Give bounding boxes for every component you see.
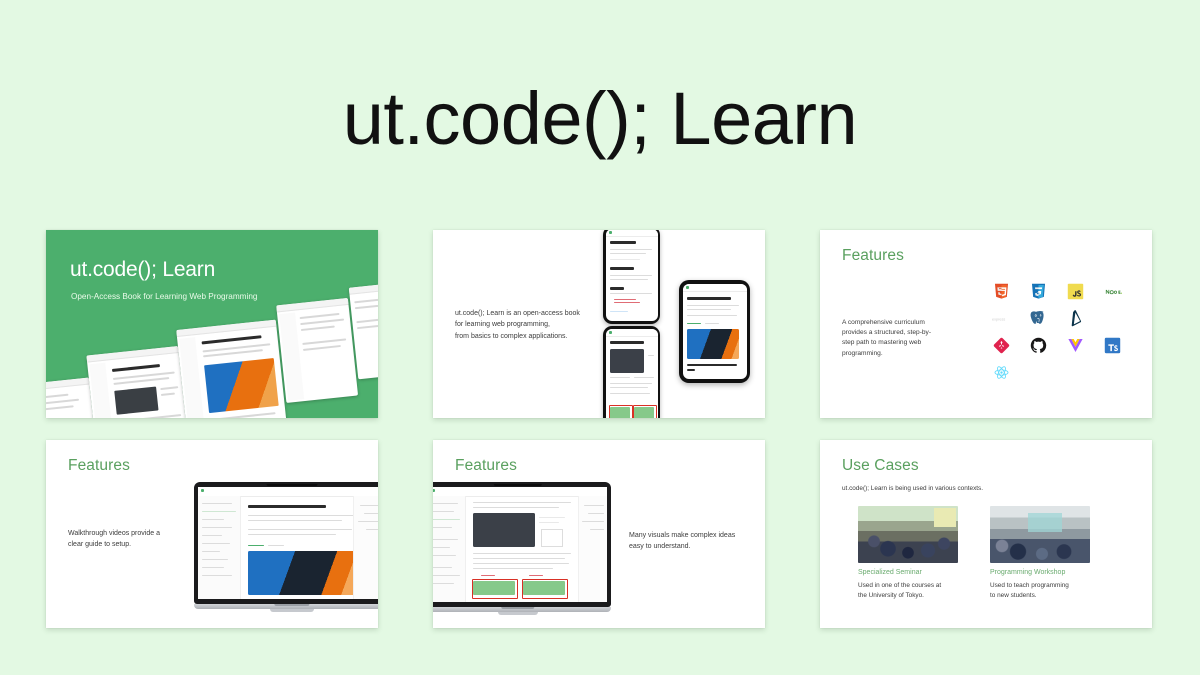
react-icon [992,363,1011,382]
slide-grid: ut.code(); Learn Open-Access Book for Le… [46,230,1154,628]
slide-heading: Features [455,457,517,475]
hero-title: ut.code(); Learn [70,258,215,282]
prisma-icon [1066,309,1085,328]
slide-features-videos[interactable]: Features Walkthrough videos provide a cl… [46,440,378,628]
redux-icon [992,336,1011,355]
screenshot-mosaic [46,289,378,418]
svg-text:express: express [992,317,1005,321]
use-case-list: Specialized Seminar Used in one of the c… [858,506,1120,601]
use-case-item[interactable]: Programming Workshop Used to teach progr… [990,506,1090,601]
use-case-item[interactable]: Specialized Seminar Used in one of the c… [858,506,958,601]
laptop-mockup [194,482,378,612]
html5-icon [992,282,1011,301]
seminar-photo [858,506,958,563]
use-case-description: Used in one of the courses at the Univer… [858,581,958,601]
tech-logo-grid: express [983,278,1131,386]
slide-heading: Features [842,247,904,265]
typescript-icon [1103,336,1122,355]
laptop-mockup [433,482,611,615]
use-cases-lead: ut.code(); Learn is being used in variou… [842,485,983,492]
nodejs-icon [1103,282,1122,301]
slide-use-cases[interactable]: Use Cases ut.code(); Learn is being used… [820,440,1152,628]
slide-features-curriculum[interactable]: Features A comprehensive curriculum prov… [820,230,1152,418]
videos-body: Walkthrough videos provide a clear guide… [68,528,208,550]
logo-spacer [1103,309,1122,328]
intro-body: ut.code(); Learn is an open-access book … [455,308,615,342]
visuals-body: Many visuals make complex ideas easy to … [629,530,759,552]
slide-features-visuals[interactable]: Features Many visuals make complex ideas… [433,440,765,628]
phone-mockup-bottom [603,326,660,418]
slide-intro[interactable]: ut.code(); Learn is an open-access book … [433,230,765,418]
phone-mockup-top [603,230,660,324]
github-icon [1029,336,1048,355]
express-icon: express [992,309,1011,328]
slide-heading: Features [68,457,130,475]
postgresql-icon [1029,309,1048,328]
curriculum-body: A comprehensive curriculum provides a st… [842,318,960,359]
slide-hero[interactable]: ut.code(); Learn Open-Access Book for Le… [46,230,378,418]
css3-icon [1029,282,1048,301]
page-title: ut.code(); Learn [0,82,1200,156]
hero-subtitle: Open-Access Book for Learning Web Progra… [71,292,257,301]
slide-heading: Use Cases [842,457,919,475]
vue-icon [1066,336,1085,355]
javascript-icon [1066,282,1085,301]
use-case-title: Specialized Seminar [858,569,958,576]
tablet-mockup [679,280,750,383]
workshop-photo [990,506,1090,563]
use-case-title: Programming Workshop [990,569,1090,576]
use-case-description: Used to teach programming to new student… [990,581,1090,601]
